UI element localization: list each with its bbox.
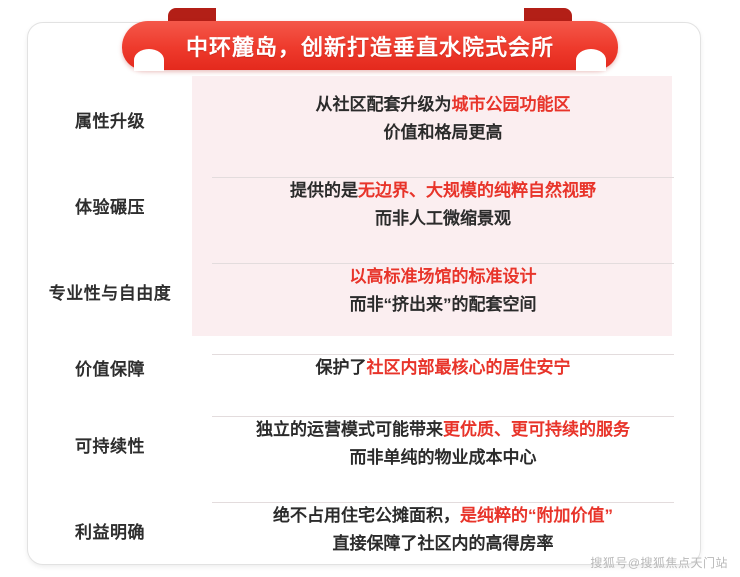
line-plain-text: 提供的是: [290, 181, 358, 200]
infographic-root: 中环麓岛，创新打造垂直水院式会所 属性升级 从社区配套升级为城市公园功能区 价值…: [0, 0, 740, 577]
row-content: 保护了社区内部最核心的居住安宁: [192, 354, 700, 382]
row-label: 体验碾压: [28, 193, 192, 218]
row-content: 从社区配套升级为城市公园功能区 价值和格局更高: [192, 91, 700, 147]
row-label: 利益明确: [28, 518, 192, 543]
table-row: 专业性与自由度 以高标准场馆的标准设计 而非“挤出来”的配套空间: [28, 248, 700, 334]
row-content: 提供的是无边界、大规模的纯粹自然视野 而非人工微缩景观: [192, 177, 700, 233]
ribbon-body: 中环麓岛，创新打造垂直水院式会所: [122, 21, 618, 70]
line-plain-text: 从社区配套升级为: [316, 95, 452, 114]
line-highlight-text: 更优质、更可持续的服务: [443, 420, 630, 439]
row-line-primary: 以高标准场馆的标准设计: [196, 263, 690, 291]
line-highlight-text: 社区内部最核心的居住安宁: [367, 358, 571, 377]
line-plain-text: 独立的运营模式可能带来: [256, 420, 443, 439]
row-label: 专业性与自由度: [28, 279, 192, 304]
table-row: 体验碾压 提供的是无边界、大规模的纯粹自然视野 而非人工微缩景观: [28, 162, 700, 248]
title-ribbon: 中环麓岛，创新打造垂直水院式会所: [122, 8, 618, 70]
table-rows: 属性升级 从社区配套升级为城市公园功能区 价值和格局更高 体验碾压 提供的是无边…: [28, 76, 700, 573]
line-plain-text: 绝不占用住宅公摊面积，: [273, 506, 460, 525]
row-content: 以高标准场馆的标准设计 而非“挤出来”的配套空间: [192, 263, 700, 319]
row-line-primary: 绝不占用住宅公摊面积，是纯粹的“附加价值”: [196, 502, 690, 530]
banner-title: 中环麓岛，创新打造垂直水院式会所: [186, 30, 554, 62]
row-line-secondary: 而非人工微缩景观: [196, 205, 690, 233]
row-line-secondary: 而非单纯的物业成本中心: [196, 444, 690, 472]
table-row: 可持续性 独立的运营模式可能带来更优质、更可持续的服务 而非单纯的物业成本中心: [28, 401, 700, 487]
line-highlight-text: 是纯粹的“附加价值”: [460, 506, 613, 525]
row-line-primary: 提供的是无边界、大规模的纯粹自然视野: [196, 177, 690, 205]
row-content: 独立的运营模式可能带来更优质、更可持续的服务 而非单纯的物业成本中心: [192, 416, 700, 472]
row-line-secondary: 价值和格局更高: [196, 119, 690, 147]
row-label: 属性升级: [28, 107, 192, 132]
line-highlight-text: 无边界、大规模的纯粹自然视野: [358, 181, 596, 200]
row-line-primary: 独立的运营模式可能带来更优质、更可持续的服务: [196, 416, 690, 444]
row-line-secondary: 直接保障了社区内的高得房率: [196, 530, 690, 558]
row-line-primary: 从社区配套升级为城市公园功能区: [196, 91, 690, 119]
row-content: 绝不占用住宅公摊面积，是纯粹的“附加价值” 直接保障了社区内的高得房率: [192, 502, 700, 558]
comparison-table: 属性升级 从社区配套升级为城市公园功能区 价值和格局更高 体验碾压 提供的是无边…: [28, 76, 700, 542]
row-line-primary: 保护了社区内部最核心的居住安宁: [196, 354, 690, 382]
line-plain-text: 保护了: [316, 358, 367, 377]
row-label: 价值保障: [28, 355, 192, 380]
table-row: 属性升级 从社区配套升级为城市公园功能区 价值和格局更高: [28, 76, 700, 162]
row-line-secondary: 而非“挤出来”的配套空间: [196, 291, 690, 319]
row-label: 可持续性: [28, 432, 192, 457]
line-highlight-text: 城市公园功能区: [452, 95, 571, 114]
table-row: 价值保障 保护了社区内部最核心的居住安宁: [28, 334, 700, 401]
line-highlight-text: 以高标准场馆的标准设计: [350, 267, 537, 286]
